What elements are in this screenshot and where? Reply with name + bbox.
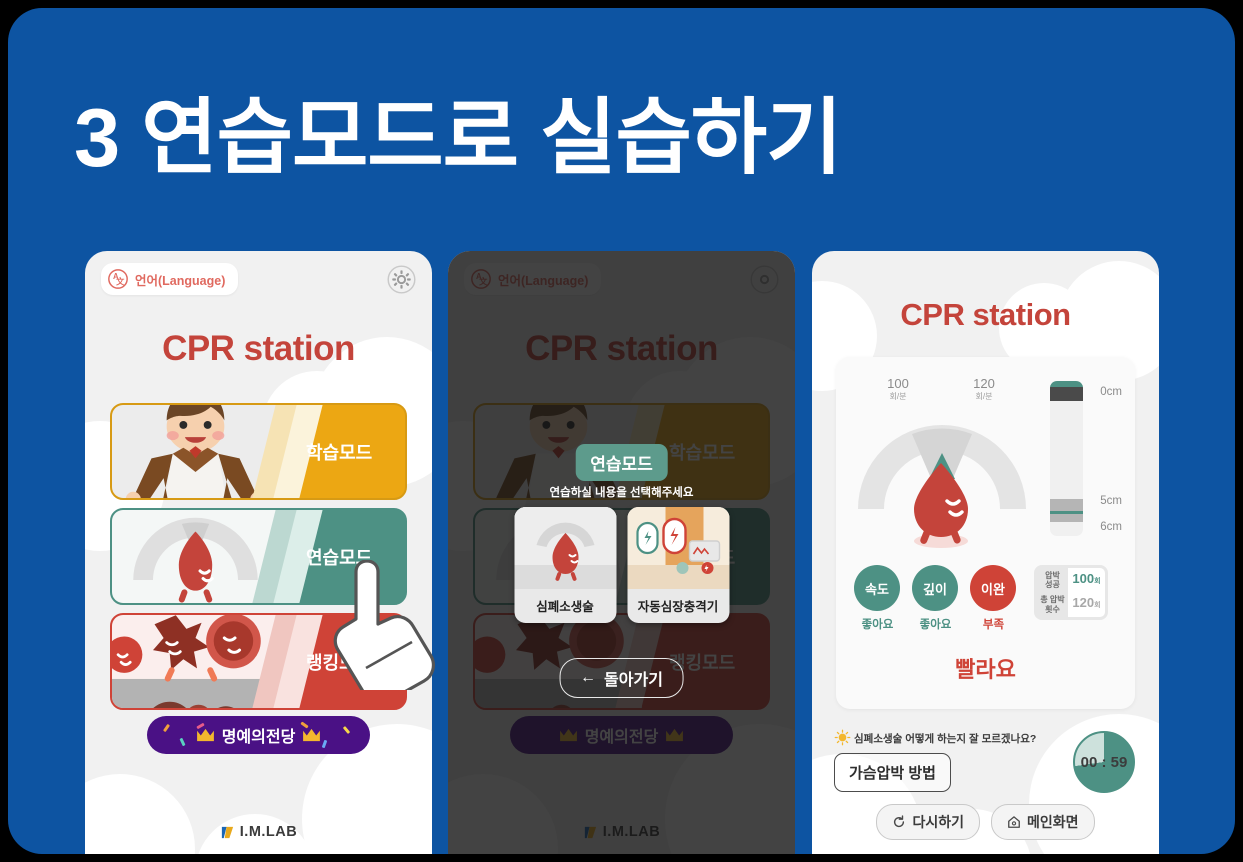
lightbulb-icon: [834, 729, 851, 746]
depth-indicator-bar: [1050, 381, 1083, 536]
stat-row-total: 총 압박 횟수 120회: [1037, 592, 1105, 616]
metric-depth-value: 좋아요: [912, 616, 959, 632]
footer-brand: I.M.LAB: [85, 824, 432, 840]
gauge-tick-right: 120 회/분: [958, 377, 1010, 402]
stat-total-key-line1: 총 압박: [1037, 595, 1068, 604]
back-button-label: 돌아가기: [604, 666, 663, 690]
imlab-logo-icon: [220, 825, 235, 840]
aed-choice-label: 자동심장충격기: [627, 589, 729, 623]
mode-card-learn[interactable]: 학습모드: [110, 403, 407, 500]
app-header: A 文 언어(Language): [448, 251, 795, 307]
translate-icon: A 文: [470, 268, 492, 290]
depth-label-0cm: 0cm: [1100, 386, 1122, 398]
learn-illustration: [112, 405, 279, 498]
phone-screen-main: A 文 언어(Language) C: [85, 251, 432, 854]
stat-total-unit: 회: [1094, 602, 1100, 609]
stat-row-success: 압박 성공 100회: [1037, 568, 1105, 592]
hall-of-fame-label: 명예의전당: [585, 723, 659, 747]
language-button[interactable]: A 文 언어(Language): [464, 263, 601, 295]
practice-choice-cpr[interactable]: 심폐소생술: [514, 507, 616, 623]
stat-success-key-line2: 성공: [1037, 580, 1068, 589]
svg-text:文: 文: [479, 277, 488, 287]
selected-mode-badge: 연습모드: [575, 444, 668, 481]
depth-label-5cm: 5cm: [1100, 495, 1122, 507]
language-button[interactable]: A 文 언어(Language): [101, 263, 238, 295]
help-section: 심폐소생술 어떻게 하는지 잘 모르겠나요? 가슴압박 방법: [834, 731, 1036, 792]
home-icon: [1007, 815, 1021, 829]
hall-of-fame-button[interactable]: 명예의전당: [147, 716, 370, 754]
metric-recoil-key: 이완: [970, 565, 1016, 611]
main-screen-button[interactable]: 메인화면: [991, 804, 1095, 840]
metric-recoil: 이완 부족: [970, 565, 1017, 632]
cpr-thumb: [514, 507, 616, 589]
brand-name: I.M.LAB: [240, 824, 297, 840]
page-title: CPR station: [448, 329, 795, 369]
stat-success-unit: 회: [1094, 578, 1100, 585]
svg-text:文: 文: [116, 277, 125, 287]
phone-screen-practice-select: A 文 언어(Language) CPR station: [448, 251, 795, 854]
restart-button[interactable]: 다시하기: [876, 804, 980, 840]
hall-of-fame-button[interactable]: 명예의전당: [510, 716, 733, 754]
countdown-timer: 00 : 59: [1073, 731, 1135, 793]
phone-screen-feedback: CPR station 100 회/분 120 회/분: [812, 251, 1159, 854]
stat-success-value: 100: [1072, 571, 1094, 586]
hall-of-fame-label: 명예의전당: [222, 723, 296, 747]
stat-success-key-line1: 압박: [1037, 571, 1068, 580]
language-label: 언어(Language): [135, 270, 225, 289]
crown-icon: [302, 728, 321, 742]
stat-total-key-line2: 횟수: [1037, 605, 1068, 614]
practice-illustration: [112, 510, 279, 603]
practice-choice-row: 심폐소생술: [514, 507, 729, 623]
crown-icon: [559, 728, 578, 742]
metric-depth-key: 깊이: [912, 565, 958, 611]
blood-drop-mascot: [892, 457, 990, 549]
feedback-panel: 100 회/분 120 회/분: [836, 357, 1135, 709]
depth-label-6cm: 6cm: [1100, 521, 1122, 533]
cpr-choice-label: 심폐소생술: [514, 589, 616, 623]
restart-button-label: 다시하기: [912, 812, 964, 832]
stat-total-value: 120: [1072, 595, 1094, 610]
metric-speed-value: 좋아요: [854, 616, 901, 632]
metric-recoil-value: 부족: [970, 616, 1017, 632]
language-label: 언어(Language): [498, 270, 588, 289]
mode-label-learn: 학습모드: [273, 405, 405, 498]
practice-choice-aed[interactable]: 자동심장충격기: [627, 507, 729, 623]
restart-icon: [892, 815, 906, 829]
chest-compression-guide-button[interactable]: 가슴압박 방법: [834, 753, 951, 792]
metric-row: 속도 좋아요 깊이 좋아요 이완 부족 압박 성공: [854, 565, 1121, 632]
poster-stage: 3 연습모드로 실습하기 A 文 언어(Language): [8, 8, 1235, 854]
gauge-left-unit: 회/분: [872, 391, 924, 402]
gauge-right-value: 120: [958, 377, 1010, 391]
metric-speed-key: 속도: [854, 565, 900, 611]
gear-icon[interactable]: [387, 265, 416, 294]
compression-stats-table: 압박 성공 100회 총 압박 횟수 120회: [1034, 565, 1108, 620]
footer-brand: I.M.LAB: [448, 824, 795, 840]
gauge-tick-left: 100 회/분: [872, 377, 924, 402]
page-title: CPR station: [812, 297, 1159, 333]
crown-icon: [665, 728, 684, 742]
selection-hint: 연습하실 내용을 선택해주세요: [448, 484, 795, 500]
main-screen-button-label: 메인화면: [1027, 812, 1079, 832]
help-question: 심폐소생술 어떻게 하는지 잘 모르겠나요?: [854, 731, 1036, 746]
back-button[interactable]: ← 돌아가기: [559, 658, 684, 698]
back-arrow-icon: ←: [580, 669, 596, 687]
page-headline: 3 연습모드로 실습하기: [74, 70, 842, 190]
crown-icon: [196, 728, 215, 742]
ranking-illustration: [112, 615, 279, 708]
imlab-logo-icon: [583, 825, 598, 840]
metric-depth: 깊이 좋아요: [912, 565, 959, 632]
hand-cursor: [326, 560, 441, 690]
gear-icon[interactable]: [750, 265, 779, 294]
gauge-right-unit: 회/분: [958, 391, 1010, 402]
page-title: CPR station: [85, 329, 432, 369]
brand-name: I.M.LAB: [603, 824, 660, 840]
aed-thumb: [627, 507, 729, 589]
translate-icon: A 文: [107, 268, 129, 290]
verdict-text: 빨라요: [836, 652, 1135, 684]
metric-speed: 속도 좋아요: [854, 565, 901, 632]
bottom-action-row: 다시하기 메인화면: [812, 804, 1159, 840]
app-header: A 文 언어(Language): [85, 251, 432, 307]
gauge-left-value: 100: [872, 377, 924, 391]
